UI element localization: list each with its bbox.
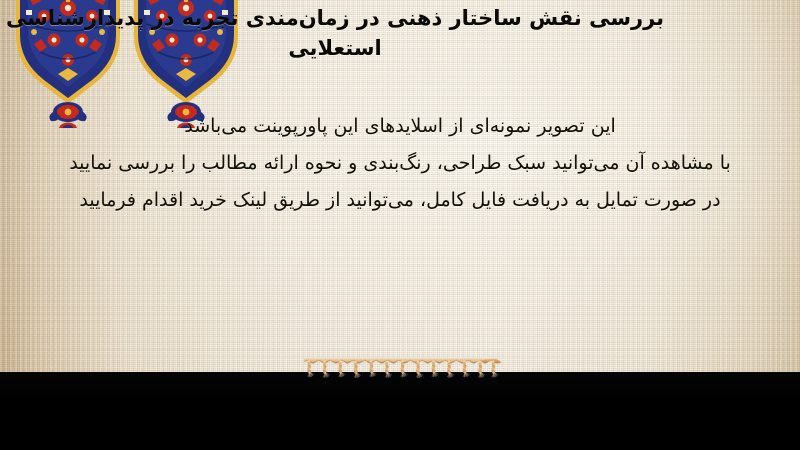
slide-body: این تصویر نمونه‌ای از اسلایدهای این پاور…: [0, 108, 800, 219]
slide-canvas: بررسی نقش ساختار ذهنی در زمان‌مندی تجربه…: [0, 0, 800, 450]
carpet-fringe: [0, 358, 800, 450]
tassel-row: [307, 361, 498, 378]
slide-title: بررسی نقش ساختار ذهنی در زمان‌مندی تجربه…: [0, 4, 790, 64]
carpet-black-field: [0, 372, 800, 450]
body-line-3: در صورت تمایل به دریافت فایل کامل، می‌تو…: [0, 182, 800, 219]
title-line-1: بررسی نقش ساختار ذهنی در زمان‌مندی تجربه…: [0, 4, 670, 34]
carpet-fringe-svg: [0, 358, 800, 380]
body-line-1: این تصویر نمونه‌ای از اسلایدهای این پاور…: [0, 108, 800, 145]
body-line-2: با مشاهده آن می‌توانید سبک طراحی، رنگ‌بن…: [0, 145, 800, 182]
title-line-2: استعلایی: [0, 34, 670, 64]
